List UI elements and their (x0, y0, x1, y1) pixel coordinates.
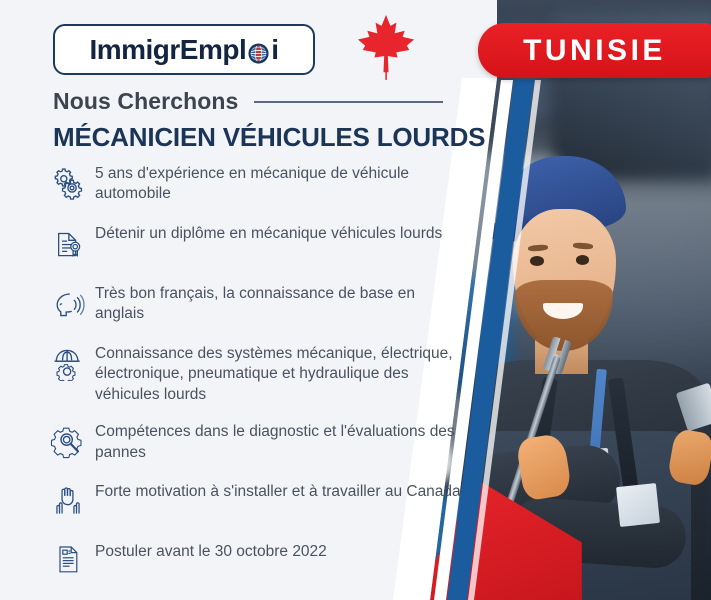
hardhat-gear-icon (48, 343, 88, 387)
requirement-text: Compétences dans le diagnostic et l'éval… (88, 421, 468, 463)
list-item: Très bon français, la connaissance de ba… (48, 283, 468, 327)
requirement-text: Postuler avant le 30 octobre 2022 (88, 541, 327, 562)
requirement-text: Forte motivation à s'installer et à trav… (88, 481, 461, 502)
requirements-list: 5 ans d'expérience en mécanique de véhic… (48, 163, 468, 600)
list-item: Connaissance des systèmes mécanique, éle… (48, 343, 468, 405)
country-badge-label: TUNISIE (523, 34, 666, 68)
kicker-text: Nous Cherchons (53, 88, 238, 115)
job-recruitment-poster: ImmigrEmpl i TUNISIE (0, 0, 711, 600)
speaking-head-icon (48, 283, 88, 327)
diploma-certificate-icon (48, 223, 88, 267)
id-badge (616, 483, 660, 527)
list-item: 5 ans d'expérience en mécanique de véhic… (48, 163, 468, 207)
logo-wordmark: ImmigrEmpl i (89, 34, 278, 66)
page-title: MÉCANICIEN VÉHICULES LOURDS (53, 122, 485, 153)
requirement-text: 5 ans d'expérience en mécanique de véhic… (88, 163, 468, 205)
application-document-icon (48, 541, 88, 585)
requirement-text: Connaissance des systèmes mécanique, éle… (88, 343, 468, 405)
mechanic-eye (576, 255, 590, 265)
list-item: Détenir un diplôme en mécanique véhicule… (48, 223, 468, 267)
list-item: Compétences dans le diagnostic et l'éval… (48, 421, 468, 465)
requirement-text: Très bon français, la connaissance de ba… (88, 283, 468, 325)
kicker-divider (254, 101, 443, 103)
globe-icon (247, 40, 270, 63)
logo-text-part-2: i (271, 34, 278, 66)
requirement-text: Détenir un diplôme en mécanique véhicule… (88, 223, 442, 244)
canadian-maple-leaf-icon (355, 12, 417, 82)
gear-magnifier-icon (48, 421, 88, 465)
mechanic-eye (530, 256, 544, 266)
kicker-row: Nous Cherchons (53, 88, 443, 115)
logo-text-part-1: ImmigrEmpl (89, 34, 246, 66)
list-item: Forte motivation à s'installer et à trav… (48, 481, 468, 525)
gears-icon (48, 163, 88, 207)
immigremploi-logo[interactable]: ImmigrEmpl i (53, 24, 315, 75)
motivation-hands-icon (48, 481, 88, 525)
country-badge-tunisie[interactable]: TUNISIE (478, 23, 711, 78)
list-item: Postuler avant le 30 octobre 2022 (48, 541, 468, 585)
